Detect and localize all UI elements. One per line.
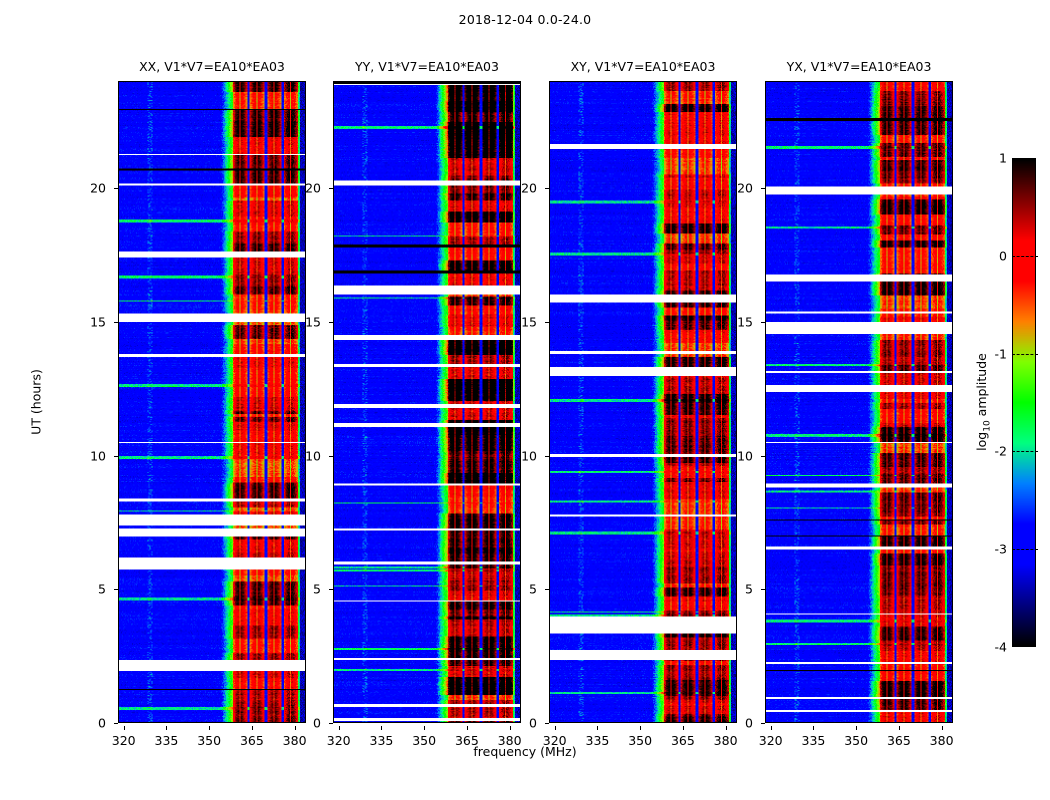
colorbar-tick (1012, 354, 1038, 355)
x-axis-tick (295, 726, 296, 730)
y-axis-tick (114, 723, 118, 724)
x-axis-tick (813, 726, 814, 730)
colorbar[interactable] (1012, 158, 1036, 647)
y-axis-tick (114, 589, 118, 590)
y-axis-tick (545, 322, 549, 323)
x-axis-tick (726, 726, 727, 730)
y-axis-tick-label: 15 (521, 314, 537, 329)
x-axis-tick (467, 726, 468, 730)
heatmap-xy[interactable] (549, 81, 737, 723)
y-axis-tick-label: 5 (98, 582, 106, 597)
y-axis-tick (761, 456, 765, 457)
y-axis-tick-label: 0 (98, 716, 106, 731)
y-axis-tick-label: 5 (529, 582, 537, 597)
y-axis-tick (761, 589, 765, 590)
x-axis-tick (166, 726, 167, 730)
x-axis-tick (124, 726, 125, 730)
y-axis-tick (329, 589, 333, 590)
x-axis-tick (381, 726, 382, 730)
y-axis-tick-label: 10 (90, 448, 106, 463)
y-axis-tick (114, 322, 118, 323)
x-axis-tick (209, 726, 210, 730)
y-axis-tick-label: 20 (737, 181, 753, 196)
x-axis-tick (856, 726, 857, 730)
x-axis-tick (640, 726, 641, 730)
colorbar-tick-label: -3 (985, 542, 1007, 557)
y-axis-tick (761, 322, 765, 323)
y-axis-label: UT (hours) (29, 369, 44, 435)
y-axis-tick-label: 0 (313, 716, 321, 731)
colorbar-label-suffix: amplitude (974, 353, 989, 420)
y-axis-tick (545, 589, 549, 590)
x-axis-tick (424, 726, 425, 730)
colorbar-tick-label: -2 (985, 444, 1007, 459)
y-axis-tick-label: 10 (521, 448, 537, 463)
y-axis-tick (545, 456, 549, 457)
colorbar-tick-label: -4 (985, 640, 1007, 655)
x-axis-tick (942, 726, 943, 730)
y-axis-tick-label: 5 (313, 582, 321, 597)
y-axis-tick (114, 456, 118, 457)
y-axis-tick (329, 188, 333, 189)
y-axis-tick-label: 15 (737, 314, 753, 329)
heatmap-yx[interactable] (765, 81, 953, 723)
y-axis-tick-label: 20 (90, 181, 106, 196)
y-axis-tick (761, 723, 765, 724)
y-axis-tick-label: 0 (529, 716, 537, 731)
panel-title-yy: YY, V1*V7=EA10*EA03 (355, 59, 499, 74)
x-axis-tick (899, 726, 900, 730)
panel-title-xx: XX, V1*V7=EA10*EA03 (139, 59, 285, 74)
x-axis-tick (555, 726, 556, 730)
panel-xx[interactable]: XX, V1*V7=EA10*EA03 32033535036538005101… (118, 81, 306, 723)
y-axis-tick (114, 188, 118, 189)
x-axis-tick (771, 726, 772, 730)
colorbar-label-sub: 10 (982, 420, 992, 431)
panel-title-xy: XY, V1*V7=EA10*EA03 (571, 59, 716, 74)
y-axis-tick-label: 20 (305, 181, 321, 196)
x-axis-tick (683, 726, 684, 730)
y-axis-tick-label: 0 (745, 716, 753, 731)
colorbar-tick (1012, 256, 1038, 257)
colorbar-tick-label: 1 (985, 151, 1007, 166)
y-axis-tick (545, 188, 549, 189)
x-axis-tick (597, 726, 598, 730)
y-axis-tick (329, 723, 333, 724)
panel-xy[interactable]: XY, V1*V7=EA10*EA03 32033535036538005101… (549, 81, 737, 723)
colorbar-tick-label: 0 (985, 248, 1007, 263)
y-axis-tick-label: 10 (737, 448, 753, 463)
y-axis-tick-label: 10 (305, 448, 321, 463)
y-axis-tick (329, 456, 333, 457)
colorbar-tick (1012, 451, 1038, 452)
y-axis-tick-label: 15 (305, 314, 321, 329)
colorbar-label: log10 amplitude (974, 353, 993, 451)
heatmap-xx[interactable] (118, 81, 306, 723)
colorbar-tick-label: -1 (985, 346, 1007, 361)
y-axis-tick (761, 188, 765, 189)
figure-suptitle: 2018-12-04 0.0-24.0 (0, 12, 1050, 27)
x-axis-tick (510, 726, 511, 730)
heatmap-yy[interactable] (333, 81, 521, 723)
panel-title-yx: YX, V1*V7=EA10*EA03 (787, 59, 932, 74)
x-axis-tick (252, 726, 253, 730)
x-axis-tick (339, 726, 340, 730)
x-axis-label: frequency (MHz) (0, 744, 1050, 759)
y-axis-tick (329, 322, 333, 323)
panel-yx[interactable]: YX, V1*V7=EA10*EA03 32033535036538005101… (765, 81, 953, 723)
y-axis-tick (545, 723, 549, 724)
y-axis-tick-label: 20 (521, 181, 537, 196)
y-axis-tick-label: 15 (90, 314, 106, 329)
panel-yy[interactable]: YY, V1*V7=EA10*EA03 32033535036538005101… (333, 81, 521, 723)
colorbar-tick (1012, 549, 1038, 550)
y-axis-tick-label: 5 (745, 582, 753, 597)
